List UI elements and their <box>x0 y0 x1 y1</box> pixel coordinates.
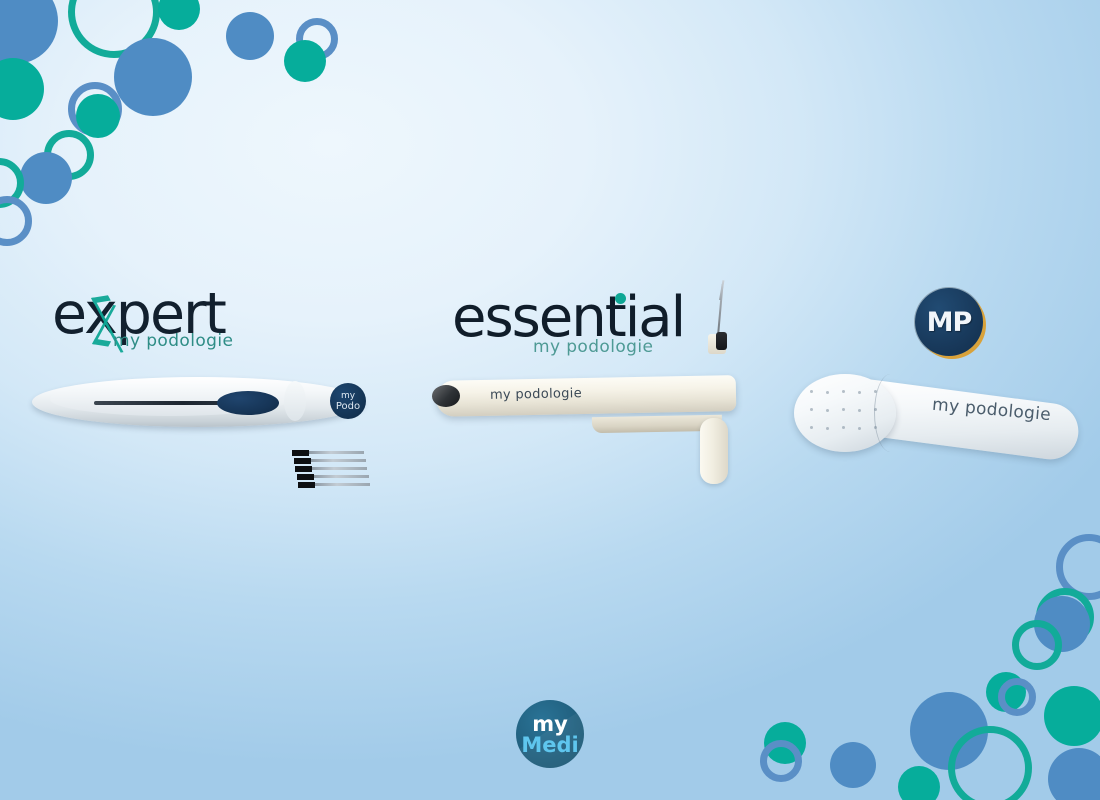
blade-shaft <box>314 475 369 478</box>
blade-accessory <box>292 450 364 456</box>
blade-shaft <box>315 483 370 486</box>
device-my-podologie-handpiece: my podologie <box>786 368 1084 458</box>
vent-dot <box>858 391 861 394</box>
blade-tip <box>294 458 311 464</box>
handpiece-seam <box>874 374 907 452</box>
blade-accessory <box>295 466 367 472</box>
decorative-circle <box>1012 620 1062 670</box>
vent-dot <box>842 390 845 393</box>
essential-pen-body <box>436 375 737 417</box>
essential-pen-grip <box>700 418 728 484</box>
essential-pen-label: my podologie <box>490 386 582 403</box>
device-essential-pen: my podologie <box>420 288 750 488</box>
decorative-circle <box>760 740 802 782</box>
blade-shaft <box>311 459 366 462</box>
decorative-circle <box>0 0 58 64</box>
logo-expert: expert my podologie <box>47 284 267 360</box>
decorative-circle <box>226 12 274 60</box>
vent-dot <box>826 427 829 430</box>
decorative-circle <box>284 40 326 82</box>
decorative-circle <box>114 38 192 116</box>
decorative-circle <box>948 726 1032 800</box>
decorative-circle <box>998 678 1036 716</box>
vent-dot <box>810 408 813 411</box>
blade-tip <box>297 474 314 480</box>
decorative-circle <box>0 196 32 246</box>
expert-blade-accessories <box>292 450 368 490</box>
vent-dot <box>826 391 829 394</box>
decorative-circle <box>20 152 72 204</box>
logo-expert-tagline: my podologie <box>113 331 233 351</box>
my-podo-badge: my Podo <box>330 383 366 419</box>
decorative-circle <box>1048 748 1100 800</box>
decorative-circle <box>898 766 940 800</box>
vent-dot <box>810 426 813 429</box>
blade-accessory <box>298 482 370 488</box>
decorative-circle <box>158 0 200 30</box>
blade-tip <box>292 450 309 456</box>
logo-mp-badge: MP <box>915 288 983 356</box>
vent-dot <box>858 427 861 430</box>
logo-my-medi-line2: Medi <box>516 733 584 757</box>
essential-pen-clamp-cap <box>716 332 727 350</box>
my-podo-badge-line1: my <box>341 391 355 401</box>
logo-mp-initials: MP <box>927 307 972 338</box>
decorative-circle <box>830 742 876 788</box>
blade-tip <box>298 482 315 488</box>
blade-shaft <box>312 467 367 470</box>
decorative-circle <box>1044 686 1100 746</box>
handpiece-vent-dots <box>810 390 880 436</box>
vent-dot <box>842 408 845 411</box>
vent-dot <box>810 390 813 393</box>
logo-my-medi: my Medi <box>516 700 584 768</box>
vent-dot <box>858 409 861 412</box>
blade-accessory <box>294 458 366 464</box>
my-podo-badge-line2: Podo <box>336 401 360 412</box>
decorative-circle <box>0 58 44 120</box>
blade-accessory <box>297 474 369 480</box>
vent-dot <box>826 409 829 412</box>
blade-tip <box>295 466 312 472</box>
decorative-circle <box>76 94 120 138</box>
vent-dot <box>842 426 845 429</box>
product-showcase-canvas: expert my podologie essential my podolog… <box>0 0 1100 800</box>
blade-shaft <box>309 451 364 454</box>
